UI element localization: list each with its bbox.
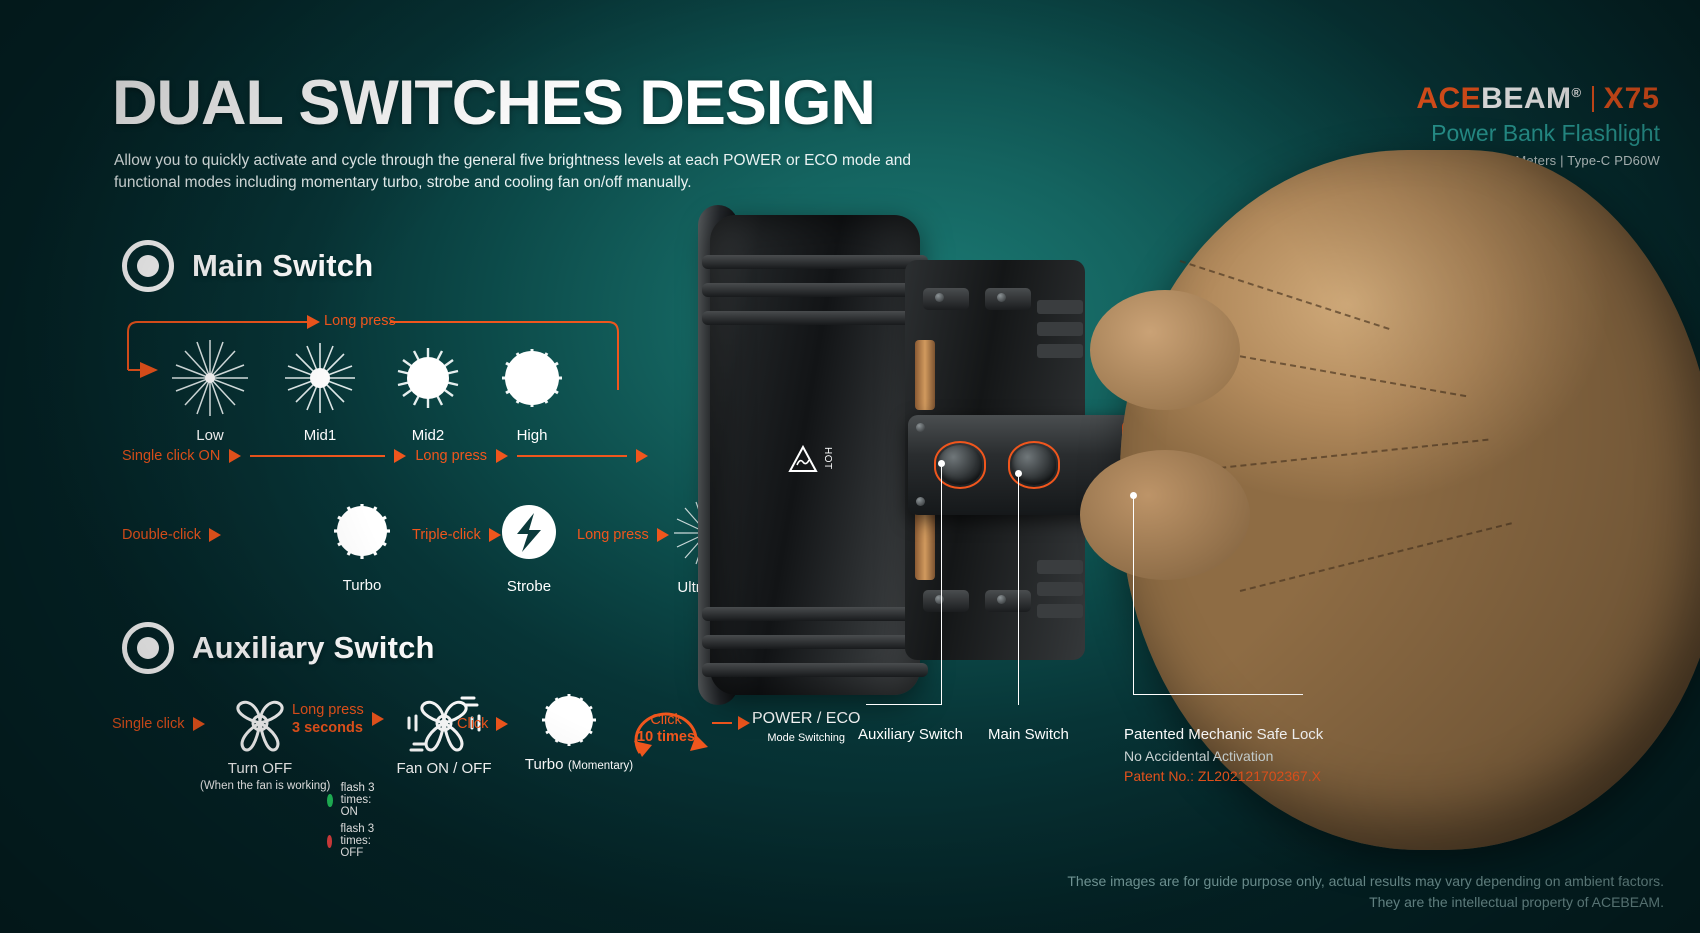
- aux-3-seconds-label: 3 seconds: [292, 720, 364, 736]
- turbo-item: Turbo: [307, 495, 417, 594]
- turbo-label: Turbo: [307, 577, 417, 594]
- flow-arrow-icon: [372, 712, 384, 726]
- main-loop-label: Long press: [324, 313, 396, 329]
- cycle-times-label: 10 times: [637, 729, 695, 745]
- logo-ace: ACE: [1416, 82, 1481, 115]
- sun-mid1-icon: [270, 335, 370, 421]
- cycle-label: Click 10 times: [637, 712, 695, 745]
- flow-arrow-icon: [209, 528, 221, 542]
- main-switch-flow-row: Single click ON Long press: [122, 448, 648, 464]
- disclaimer-line2: They are the intellectual property of AC…: [1067, 892, 1664, 913]
- level-high: High: [482, 335, 582, 444]
- strobe-label: Strobe: [474, 578, 584, 595]
- turbo-sun-icon: [307, 495, 417, 575]
- hot-label: HOT: [822, 447, 833, 470]
- main-switch-callout: Main Switch: [988, 726, 1069, 743]
- main-switch-highlight: [1008, 441, 1060, 489]
- callout-leader-aux: [941, 463, 942, 705]
- triple-click-label: Triple-click: [412, 527, 481, 543]
- callout-leader-aux-h: [866, 704, 942, 705]
- aux-step1-label: Turn OFF: [200, 760, 320, 777]
- flow-arrow-icon: [229, 449, 241, 463]
- aux-step3-label: Turbo: [525, 756, 564, 773]
- aux-single-click-label: Single click: [112, 716, 185, 732]
- long-press-label: Long press: [577, 527, 649, 543]
- flash-legend: flash 3 times: ON flash 3 times: OFF: [327, 782, 379, 859]
- double-click-label: Double-click: [122, 527, 201, 543]
- flow-line: [517, 455, 627, 457]
- disclaimer: These images are for guide purpose only,…: [1067, 871, 1664, 913]
- flash-legend-off: flash 3 times: OFF: [327, 823, 379, 859]
- green-dot-icon: [327, 794, 333, 807]
- flow-arrow-icon: [394, 449, 406, 463]
- level-high-label: High: [482, 427, 582, 444]
- function-double-click: Double-click: [122, 527, 221, 543]
- flashlight-head: HOT: [710, 215, 920, 695]
- switch-ring-icon: [122, 240, 174, 292]
- auxiliary-switch-title: Auxiliary Switch: [192, 630, 435, 666]
- auxiliary-switch-section-header: Auxiliary Switch: [122, 622, 435, 674]
- aux-click-label: Click: [457, 716, 488, 732]
- aux-step2-label: Fan ON / OFF: [384, 760, 504, 777]
- aux-long-press-label: Long press: [292, 702, 364, 718]
- main-switch-section-header: Main Switch: [122, 240, 373, 292]
- model-name: X75: [1604, 82, 1660, 116]
- disclaimer-line1: These images are for guide purpose only,…: [1067, 871, 1664, 892]
- level-low: Low: [160, 335, 260, 444]
- brand-separator: [1592, 86, 1594, 112]
- flow-arrow-icon: [636, 449, 648, 463]
- safe-lock-callout-sub: No Accidental Activation: [1124, 748, 1273, 764]
- aux-step1-action: Single click: [112, 716, 205, 732]
- safe-lock-patent-number: Patent No.: ZL202121702367.X: [1124, 768, 1321, 784]
- flash-on-text: flash 3 times: ON: [341, 782, 379, 818]
- flow-arrow-icon: [496, 717, 508, 731]
- aux-step2-item: Fan ON / OFF: [384, 692, 504, 777]
- flash-legend-on: flash 3 times: ON: [327, 782, 379, 818]
- aux-step1-sub: (When the fan is working): [200, 780, 320, 792]
- flow-single-click-label: Single click ON: [122, 448, 220, 464]
- level-mid2-label: Mid2: [378, 427, 478, 444]
- level-low-label: Low: [160, 427, 260, 444]
- callout-leader-main: [1018, 473, 1019, 705]
- callout-leader-lock-h: [1133, 694, 1303, 695]
- aux-step3-action: Click: [457, 716, 508, 732]
- acebeam-logo: ACEBEAM®: [1416, 84, 1581, 114]
- safe-lock-callout-title: Patented Mechanic Safe Lock: [1124, 726, 1323, 743]
- red-dot-icon: [327, 835, 332, 848]
- registered-mark-icon: ®: [1572, 85, 1582, 100]
- page-title: DUAL SWITCHES DESIGN: [112, 72, 875, 135]
- cycle-click-label: Click: [637, 712, 695, 728]
- flow-line: [250, 455, 385, 457]
- auxiliary-switch-callout: Auxiliary Switch: [858, 726, 963, 743]
- strobe-bolt-icon: [474, 500, 584, 576]
- infographic-canvas: DUAL SWITCHES DESIGN Allow you to quickl…: [0, 0, 1700, 933]
- flow-arrow-icon: [496, 449, 508, 463]
- gloved-hand: [1120, 150, 1700, 850]
- callout-leader-lock: [1133, 495, 1134, 695]
- sun-low-icon: [160, 335, 260, 421]
- product-photo: HOT: [690, 170, 1700, 870]
- hot-warning-icon: [788, 443, 818, 477]
- aux-step2-action: Long press 3 seconds: [292, 702, 384, 736]
- strobe-item: Strobe: [474, 500, 584, 595]
- switch-ring-icon: [122, 622, 174, 674]
- flash-off-text: flash 3 times: OFF: [340, 823, 378, 859]
- sun-high-icon: [482, 335, 582, 421]
- logo-beam: BEAM: [1481, 82, 1571, 115]
- level-mid1: Mid1: [270, 335, 370, 444]
- main-switch-title: Main Switch: [192, 248, 373, 284]
- level-mid1-label: Mid1: [270, 427, 370, 444]
- sun-mid2-icon: [378, 335, 478, 421]
- level-mid2: Mid2: [378, 335, 478, 444]
- product-tagline: Power Bank Flashlight: [1383, 120, 1660, 147]
- flow-long-press-label: Long press: [415, 448, 487, 464]
